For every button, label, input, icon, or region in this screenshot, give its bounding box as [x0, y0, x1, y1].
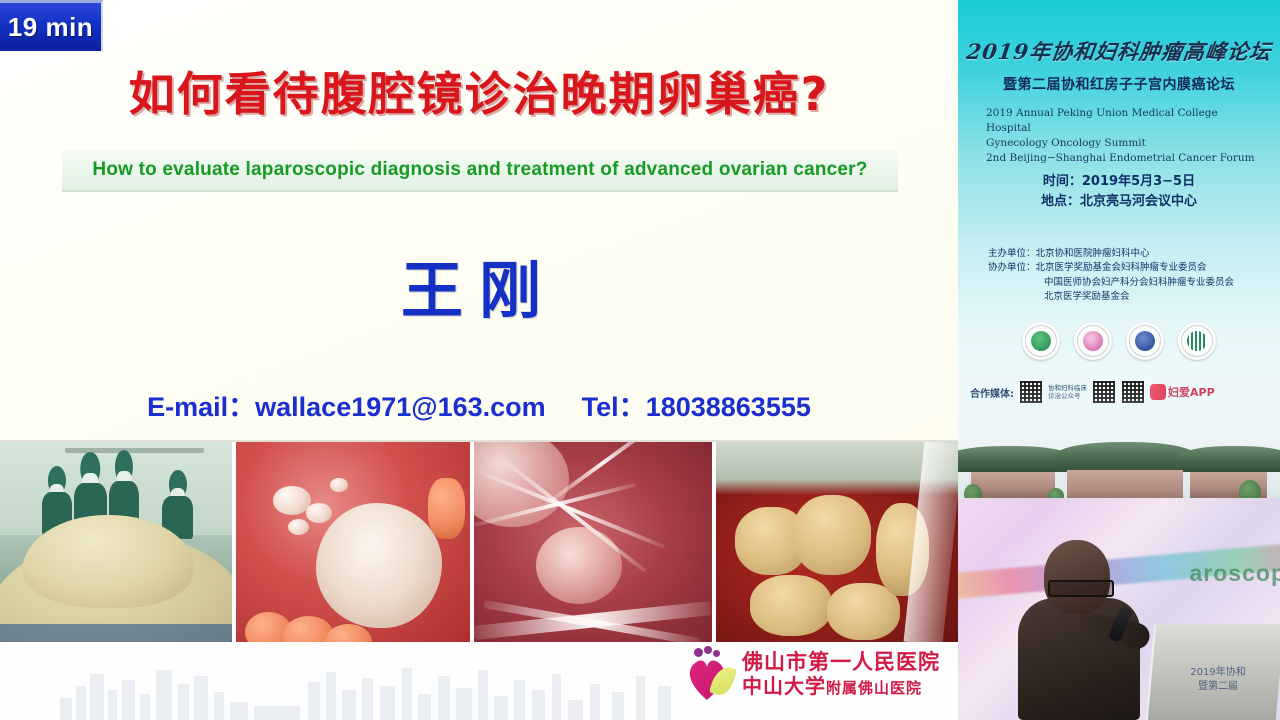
poster-bottom-fade — [958, 370, 1280, 440]
right-panel: 2019年协和妇科肿瘤高峰论坛 暨第二届协和红房子子宫内膜癌论坛 2019 An… — [958, 0, 1280, 720]
tel-value: 18038863555 — [646, 392, 811, 422]
speaker-video-feed: aroscop 2019年协和 暨第二届 — [958, 440, 1280, 720]
poster-organization-logos — [958, 322, 1280, 360]
photo-laparoscopic-adhesions — [474, 442, 716, 644]
contact-line: E-mail：wallace1971@163.comTel：1803886355… — [0, 385, 958, 424]
poster-cohost-row: 协办单位：北京医学奖励基金会妇科肿瘤专业委员会 — [988, 261, 1268, 275]
slide-photo-strip — [0, 440, 958, 644]
poster-subtitle-chinese: 暨第二届协和红房子子宫内膜癌论坛 — [958, 74, 1280, 94]
hospital-name-line1: 佛山市第一人民医院 — [742, 650, 940, 675]
hospital-name-line2-main: 中山大学 — [742, 674, 826, 698]
hospital-name-line2-sub: 附属佛山医院 — [826, 679, 922, 697]
duration-badge: 19 min — [0, 0, 103, 51]
poster-english-line-1: 2019 Annual Peking Union Medical College… — [986, 106, 1256, 136]
hospital-emblem-icon — [682, 646, 734, 702]
screen-text-fragment: aroscop — [1190, 560, 1280, 587]
photo-ovarian-tumour — [236, 442, 474, 644]
slide-footer: 佛山市第一人民医院 中山大学附属佛山医院 — [0, 642, 958, 720]
poster-calligraphy-title: 2019年协和妇科肿瘤高峰论坛 — [958, 36, 1280, 66]
speaker-person — [1018, 540, 1146, 720]
podium-text-line2: 暨第二届 — [1162, 680, 1274, 694]
poster-host-label: 主办单位： — [988, 248, 1036, 259]
poster-english-line-2: Gynecology Oncology Summit — [986, 136, 1256, 151]
poster-organizers: 主办单位：北京协和医院肿瘤妇科中心 协办单位：北京医学奖励基金会妇科肿瘤专业委员… — [988, 247, 1268, 305]
podium-text-line1: 2019年协和 — [1162, 666, 1274, 680]
poster-host-row: 主办单位：北京协和医院肿瘤妇科中心 — [988, 247, 1268, 261]
poster-cohost-value-3: 北京医学奖励基金会 — [988, 290, 1268, 304]
email-value: wallace1971@163.com — [255, 392, 546, 422]
email-label: E-mail： — [147, 392, 255, 422]
poster-english-line-3: 2nd Beijing−Shanghai Endometrial Cancer … — [986, 151, 1256, 166]
poster-time-line: 时间：2019年5月3−5日 — [958, 172, 1280, 192]
poster-english-block: 2019 Annual Peking Union Medical College… — [986, 106, 1256, 166]
conference-poster: 2019年协和妇科肿瘤高峰论坛 暨第二届协和红房子子宫内膜癌论坛 2019 An… — [958, 0, 1280, 440]
skyline-watermark — [60, 658, 700, 720]
speaker-name: 王刚 — [0, 240, 958, 330]
poster-place-line: 地点：北京亮马河会议中心 — [958, 192, 1280, 212]
poster-time-place: 时间：2019年5月3−5日 地点：北京亮马河会议中心 — [958, 172, 1280, 212]
tel-label: Tel： — [582, 392, 646, 422]
logo-pink-star-emblem-icon — [1074, 322, 1112, 360]
slide-subtitle-english: How to evaluate laparoscopic diagnosis a… — [92, 159, 867, 181]
poster-cohost-label: 协办单位： — [988, 262, 1036, 273]
slide-subtitle-band: How to evaluate laparoscopic diagnosis a… — [62, 150, 898, 192]
poster-cohost-value-2: 中国医师协会妇产科分会妇科肿瘤专业委员会 — [988, 276, 1268, 290]
logo-green-grid-emblem-icon — [1178, 322, 1216, 360]
poster-cohost-value-1: 北京医学奖励基金会妇科肿瘤专业委员会 — [1036, 262, 1207, 273]
logo-navy-emblem-icon — [1126, 322, 1164, 360]
poster-host-value: 北京协和医院肿瘤妇科中心 — [1036, 248, 1150, 259]
slide-title-chinese: 如何看待腹腔镜诊治晚期卵巢癌? — [0, 58, 958, 124]
screenshot-root: 如何看待腹腔镜诊治晚期卵巢癌? How to evaluate laparosc… — [0, 0, 1280, 720]
logo-green-emblem-icon — [1022, 322, 1060, 360]
hospital-logo: 佛山市第一人民医院 中山大学附属佛山医院 — [682, 646, 940, 702]
podium-text: 2019年协和 暨第二届 — [1162, 666, 1274, 694]
duration-badge-label: 19 min — [8, 12, 93, 43]
photo-operating-room — [0, 442, 236, 644]
glasses-icon — [1048, 580, 1114, 597]
photo-laparoscopic-dissection — [716, 442, 958, 644]
presentation-slide: 如何看待腹腔镜诊治晚期卵巢癌? How to evaluate laparosc… — [0, 0, 958, 720]
